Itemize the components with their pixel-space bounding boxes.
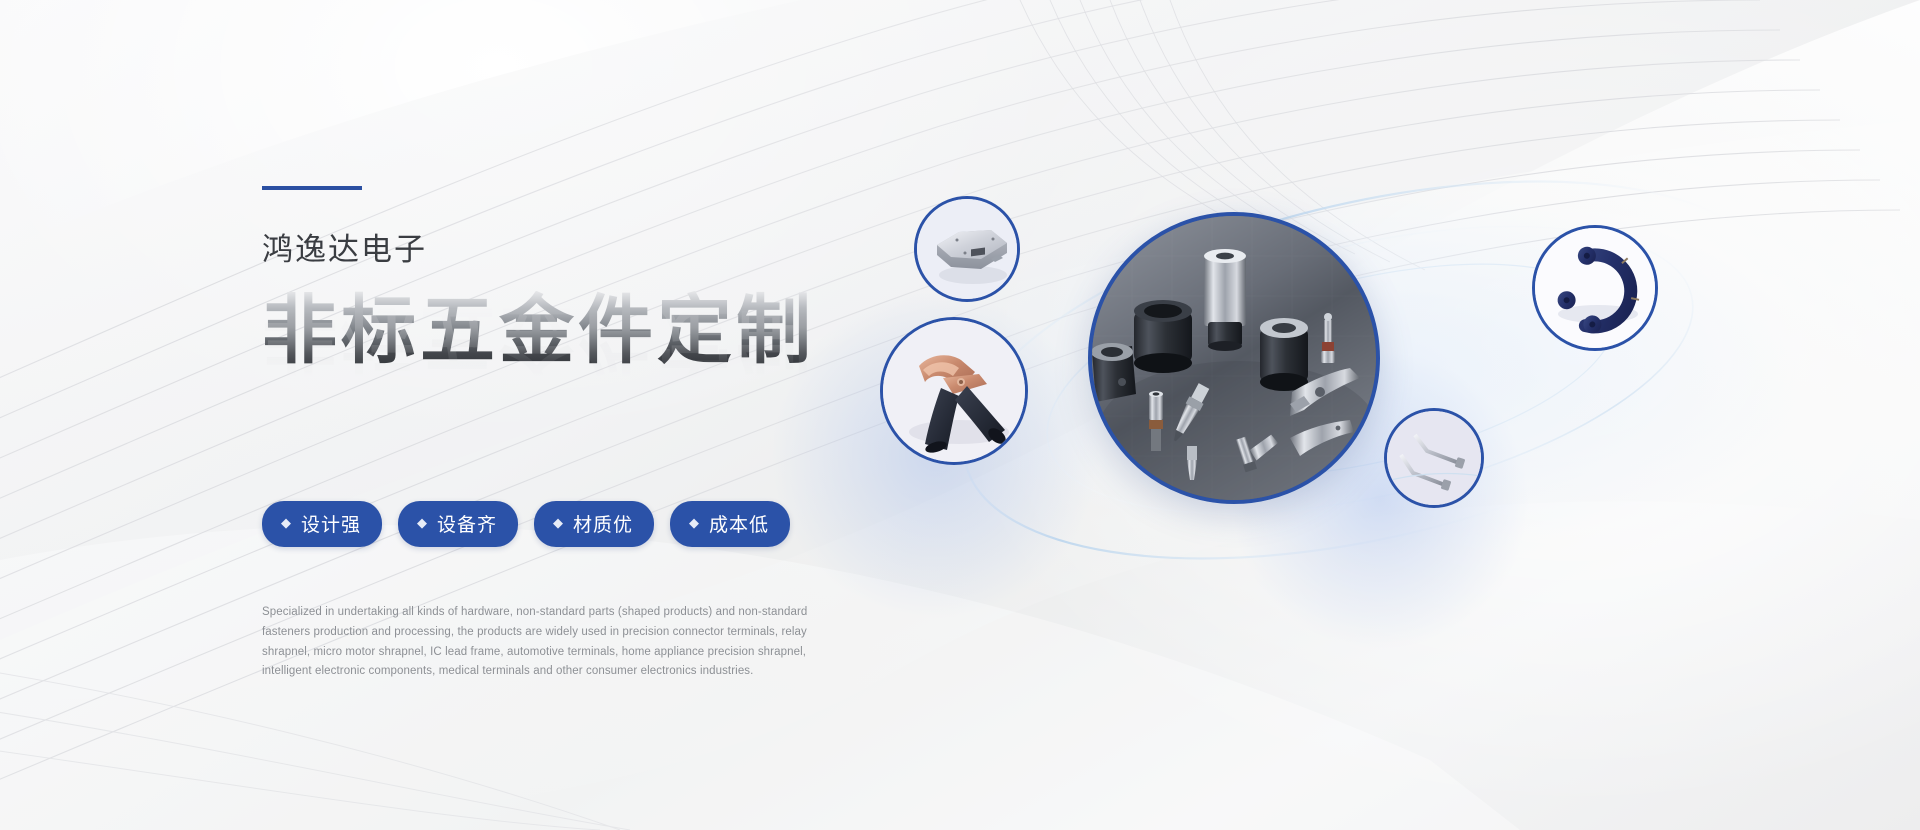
headline-reflection: 非标五金件定制 bbox=[262, 298, 815, 378]
feature-badge-equipment[interactable]: ◆ 设备齐 bbox=[398, 501, 518, 547]
diamond-icon: ◆ bbox=[553, 516, 564, 529]
hero-text-column: 鸿逸达电子 非标五金件定制 非标五金件定制 ◆ 设计强 ◆ 设备齐 ◆ 材质优 … bbox=[262, 186, 882, 682]
diamond-icon: ◆ bbox=[689, 516, 700, 529]
company-description: Specialized in undertaking all kinds of … bbox=[262, 603, 822, 682]
product-circle-metal-enclosure-box[interactable] bbox=[914, 196, 1020, 302]
feature-badge-material[interactable]: ◆ 材质优 bbox=[534, 501, 654, 547]
hero-banner: 鸿逸达电子 非标五金件定制 非标五金件定制 ◆ 设计强 ◆ 设备齐 ◆ 材质优 … bbox=[0, 0, 1920, 830]
accent-bar bbox=[262, 186, 362, 190]
product-circle-navy-retaining-ring[interactable] bbox=[1532, 225, 1658, 351]
feature-badge-cost[interactable]: ◆ 成本低 bbox=[670, 501, 790, 547]
product-circle-copper-alligator-clip[interactable] bbox=[880, 317, 1028, 465]
product-circle-precision-machined-parts[interactable] bbox=[1088, 212, 1380, 504]
orbit-rings bbox=[900, 120, 1880, 640]
diamond-icon: ◆ bbox=[281, 516, 292, 529]
feature-badge-label: 成本低 bbox=[709, 510, 769, 537]
headline-block: 非标五金件定制 非标五金件定制 bbox=[262, 291, 882, 417]
feature-badge-list: ◆ 设计强 ◆ 设备齐 ◆ 材质优 ◆ 成本低 bbox=[262, 501, 882, 547]
brand-name: 鸿逸达电子 bbox=[262, 224, 882, 269]
feature-badge-design[interactable]: ◆ 设计强 bbox=[262, 501, 382, 547]
feature-badge-label: 设计强 bbox=[301, 510, 361, 537]
diamond-icon: ◆ bbox=[417, 516, 428, 529]
product-circle-bent-terminal-pins[interactable] bbox=[1384, 408, 1484, 508]
feature-badge-label: 材质优 bbox=[573, 510, 633, 537]
product-showcase bbox=[900, 120, 1880, 640]
feature-badge-label: 设备齐 bbox=[437, 510, 497, 537]
